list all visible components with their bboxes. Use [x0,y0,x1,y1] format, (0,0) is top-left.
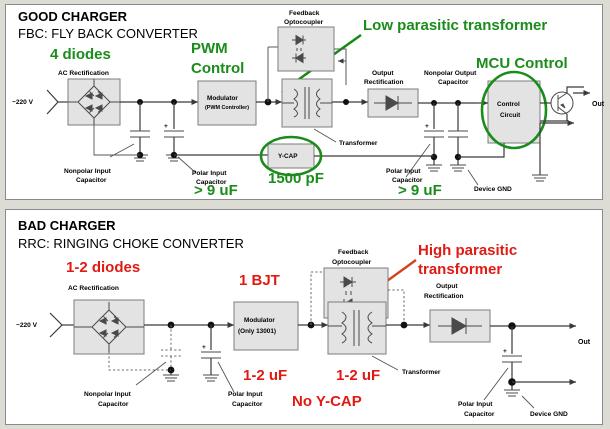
polarity-plus-label: + [503,348,507,355]
modulator-block [198,81,256,125]
bad-charger-panel: BAD CHARGER RRC: RINGING CHOKE CONVERTER… [5,209,603,425]
good-charger-panel: GOOD CHARGER FBC: FLY BACK CONVERTER 4 d… [5,4,603,200]
polar-output-capacitor-label-l1: Polar Input [386,168,421,175]
ac-source-icon [50,313,62,337]
annotation-transformer-value: 1-2 uF [336,367,380,384]
output-label: Out [592,101,604,108]
output-polar-capacitor-symbol: + [424,103,444,171]
source-voltage-label: ~220 V [12,99,34,106]
nonpolar-input-capacitor-label-l2: Capacitor [76,177,107,184]
output-rectification-label-l1: Output [436,283,458,290]
annotation-high-parasitic-l1: High parasitic [418,242,517,259]
junction-node [401,322,408,329]
optocoupler-feedback-return [388,290,404,328]
output-rectification-label-l2: Rectification [424,293,464,300]
transformer-block [328,302,386,354]
rectifier-gnd-wire [109,352,171,370]
modulator-label-l2: (PWM Controller) [205,105,249,111]
nonpolar-output-capacitor-label-l2: Capacitor [438,79,469,86]
transformer-leader [314,129,336,142]
polarity-plus-label: + [202,344,206,351]
polarity-plus-label: + [425,123,429,130]
polar-output-leader [484,368,508,400]
ac-rectification-label: AC Rectification [68,285,119,292]
polar-output-capacitor-label-l2: Capacitor [392,177,423,184]
polar-output-capacitor-label-l2: Capacitor [464,411,495,418]
nonpolar-input-capacitor-label-l1: Nonpolar Input [84,391,132,398]
device-gnd-capacitor-symbol [448,103,468,171]
polar-output-capacitor-label-l1: Polar Input [458,401,493,408]
annotation-pwm-line2: Control [191,60,244,77]
output-label: Out [578,339,591,346]
junction-node [343,99,349,105]
good-charger-schematic: GOOD CHARGER FBC: FLY BACK CONVERTER 4 d… [6,5,602,199]
output-rectification-label-l1: Output [372,70,394,77]
polar-input-capacitor-label-l2: Capacitor [232,401,263,408]
nonpolar-input-leader [136,362,166,385]
modulator-label-l1: Modulator [207,95,238,102]
polar-input-capacitor-symbol: + [201,325,221,381]
modulator-label-l2: (Only 13001) [238,328,276,335]
polar-input-capacitor-label-l2: Capacitor [196,179,227,186]
bad-charger-schematic: BAD CHARGER RRC: RINGING CHOKE CONVERTER… [6,210,602,424]
polar-input-capacitor-label-l1: Polar Input [228,391,263,398]
polarity-plus-label: + [164,123,168,130]
device-gnd-leader [522,396,534,408]
modulator-block [234,302,298,350]
polar-input-leader [218,362,234,392]
transformer-label: Transformer [402,369,441,376]
nonpolar-input-capacitor-label-l2: Capacitor [98,401,129,408]
device-gnd-leader [468,170,478,185]
junction-node [431,154,437,160]
device-gnd-label: Device GND [530,411,568,418]
feedback-optocoupler-label-l2: Optocoupler [284,19,324,26]
control-circuit-label-l1: Control [497,101,520,108]
annotation-1-bjt: 1 BJT [239,272,280,289]
nonpolar-output-capacitor-label-l1: Nonpolar Output [424,70,477,77]
source-voltage-label: ~220 V [16,322,38,329]
feedback-optocoupler-label-l1: Feedback [289,10,320,17]
feedback-optocoupler-label-l2: Optocoupler [332,259,372,266]
device-gnd-label: Device GND [474,186,512,193]
ac-source-icon [47,90,58,114]
nonpolar-input-capacitor-label-l1: Nonpolar Input [64,168,112,175]
good-panel-subtitle: FBC: FLY BACK CONVERTER [18,26,198,41]
annotation-polar-output-value: > 9 uF [398,182,442,199]
transformer-label: Transformer [339,140,378,147]
annotation-no-ycap: No Y-CAP [292,393,362,410]
annotation-1-2-diodes: 1-2 diodes [66,259,140,276]
ycap-label: Y-CAP [278,153,298,160]
output-rectification-label-l2: Rectification [364,79,404,86]
rectifier-gnd-wire [94,125,140,155]
good-panel-title: GOOD CHARGER [18,9,128,24]
feedback-optocoupler-label-l1: Feedback [338,249,369,256]
annotation-polar-input-value: 1-2 uF [243,367,287,384]
bad-panel-title: BAD CHARGER [18,218,116,233]
modulator-label-l1: Modulator [244,317,275,324]
annotation-pwm-line1: PWM [191,40,228,57]
feedback-optocoupler-block [278,27,334,71]
bad-panel-subtitle: RRC: RINGING CHOKE CONVERTER [18,236,244,251]
annotation-low-parasitic: Low parasitic transformer [363,17,547,34]
annotation-high-parasitic-l2: transformer [418,261,502,278]
annotation-4-diodes: 4 diodes [50,46,111,63]
ground-icon [532,175,548,181]
ac-rectification-label: AC Rectification [58,70,109,77]
control-circuit-label-l2: Circuit [500,112,521,119]
annotation-mcu-control: MCU Control [476,55,568,72]
polar-input-capacitor-label-l1: Polar Input [192,170,227,177]
